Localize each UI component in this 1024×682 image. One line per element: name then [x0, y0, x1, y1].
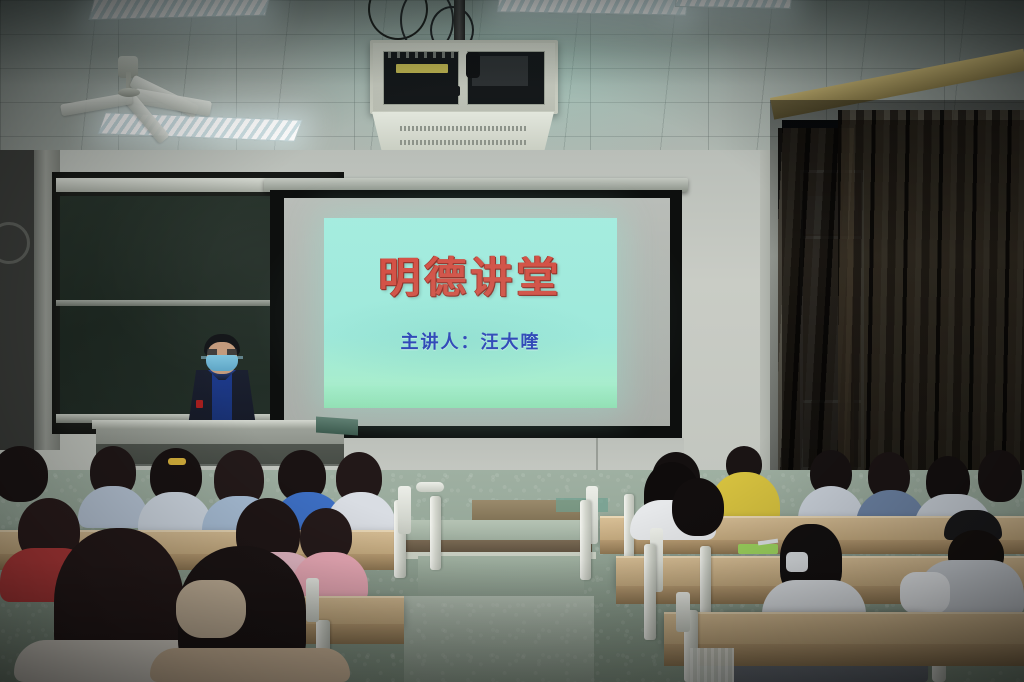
bench-desk — [664, 612, 1024, 646]
bench-rail — [676, 592, 690, 632]
student-sleeve — [900, 572, 950, 614]
bench-leg — [580, 500, 591, 580]
hair-clip-icon — [168, 458, 186, 465]
face-mask-icon — [786, 552, 808, 572]
student-torso — [150, 648, 350, 682]
curtain-shadow — [770, 100, 1024, 490]
aisle-step-tread-2 — [418, 556, 584, 596]
center-aisle — [404, 596, 594, 682]
slide-title: 明德讲堂 — [324, 244, 617, 305]
lectern-top — [92, 420, 348, 429]
bench-rail — [306, 578, 319, 622]
slide-subtitle: 主讲人：汪大喹 — [324, 328, 617, 354]
face-mask-icon — [206, 355, 238, 371]
lecturer-shirt — [212, 372, 232, 426]
student-head — [0, 446, 48, 502]
projected-slide: 明德讲堂 主讲人：汪大喹 — [324, 218, 617, 408]
lecturer-badge — [196, 400, 203, 408]
bench-leg — [644, 544, 656, 640]
notebook — [738, 544, 778, 554]
bench-basket — [690, 648, 734, 682]
bench-leg — [430, 496, 441, 570]
student-head — [978, 450, 1022, 502]
lecture-hall-photo: 明德讲堂 主讲人：汪大喹 — [0, 0, 1024, 682]
student-head — [672, 478, 724, 536]
bench-rail — [416, 482, 444, 492]
bench-rail — [398, 486, 411, 534]
lecturer — [186, 334, 258, 426]
slide-bottom-band — [324, 386, 617, 408]
student-arm — [176, 580, 246, 638]
lectern-right-extension — [316, 417, 358, 436]
